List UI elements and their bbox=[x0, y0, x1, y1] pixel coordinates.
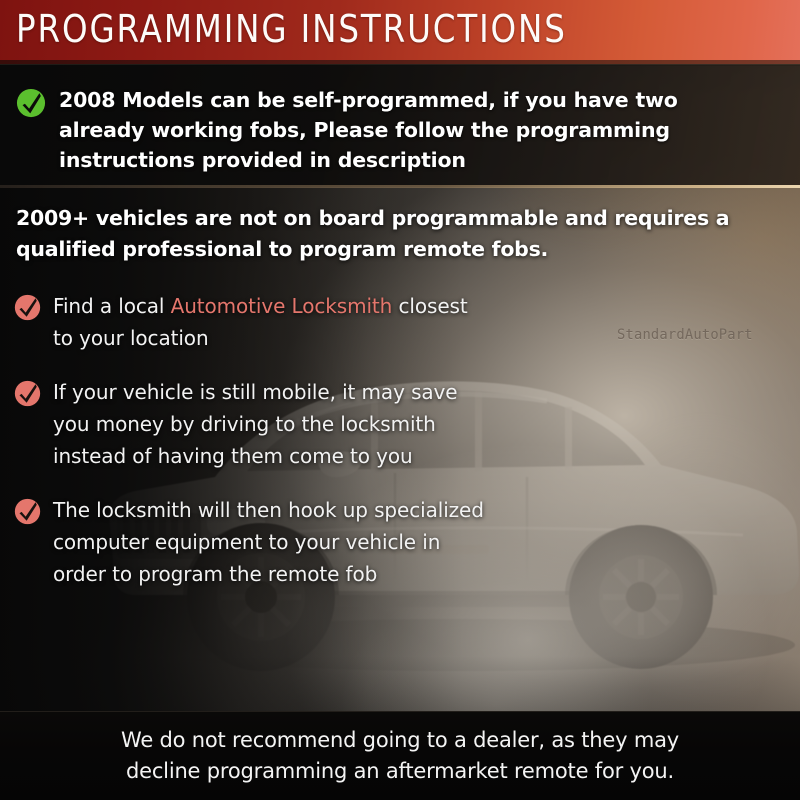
list-item-label: If your vehicle is still mobile, it may … bbox=[53, 376, 484, 472]
bullet-lead-text: Find a local bbox=[53, 294, 171, 318]
statement-text: 2009+ vehicles are not on board programm… bbox=[16, 203, 761, 265]
list-item: If your vehicle is still mobile, it may … bbox=[14, 376, 484, 472]
poster-header: PROGRAMMING INSTRUCTIONS bbox=[0, 0, 800, 64]
green-check-circle-icon bbox=[16, 88, 46, 118]
bullet-highlight-text: Automotive Locksmith bbox=[171, 294, 393, 318]
page-title: PROGRAMMING INSTRUCTIONS bbox=[16, 8, 567, 52]
self-program-section: 2008 Models can be self-programmed, if y… bbox=[0, 64, 800, 187]
footer-line-2: decline programming an aftermarket remot… bbox=[126, 756, 674, 787]
brand-watermark: StandardAutoPart bbox=[617, 327, 753, 343]
list-item-label: The locksmith will then hook up speciali… bbox=[53, 494, 484, 590]
locksmith-bullet-list: Find a local Automotive Locksmith closes… bbox=[14, 290, 484, 612]
list-item: The locksmith will then hook up speciali… bbox=[14, 494, 484, 590]
self-program-text: 2008 Models can be self-programmed, if y… bbox=[59, 85, 756, 175]
programming-instructions-poster: PROGRAMMING INSTRUCTIONS 2008 Models can… bbox=[0, 0, 800, 800]
red-check-circle-icon bbox=[14, 498, 41, 525]
list-item-label: Find a local Automotive Locksmith closes… bbox=[53, 290, 484, 354]
poster-footer: We do not recommend going to a dealer, a… bbox=[0, 711, 800, 800]
red-check-circle-icon bbox=[14, 294, 41, 321]
footer-line-1: We do not recommend going to a dealer, a… bbox=[121, 725, 679, 756]
red-check-circle-icon bbox=[14, 380, 41, 407]
list-item: Find a local Automotive Locksmith closes… bbox=[14, 290, 484, 354]
